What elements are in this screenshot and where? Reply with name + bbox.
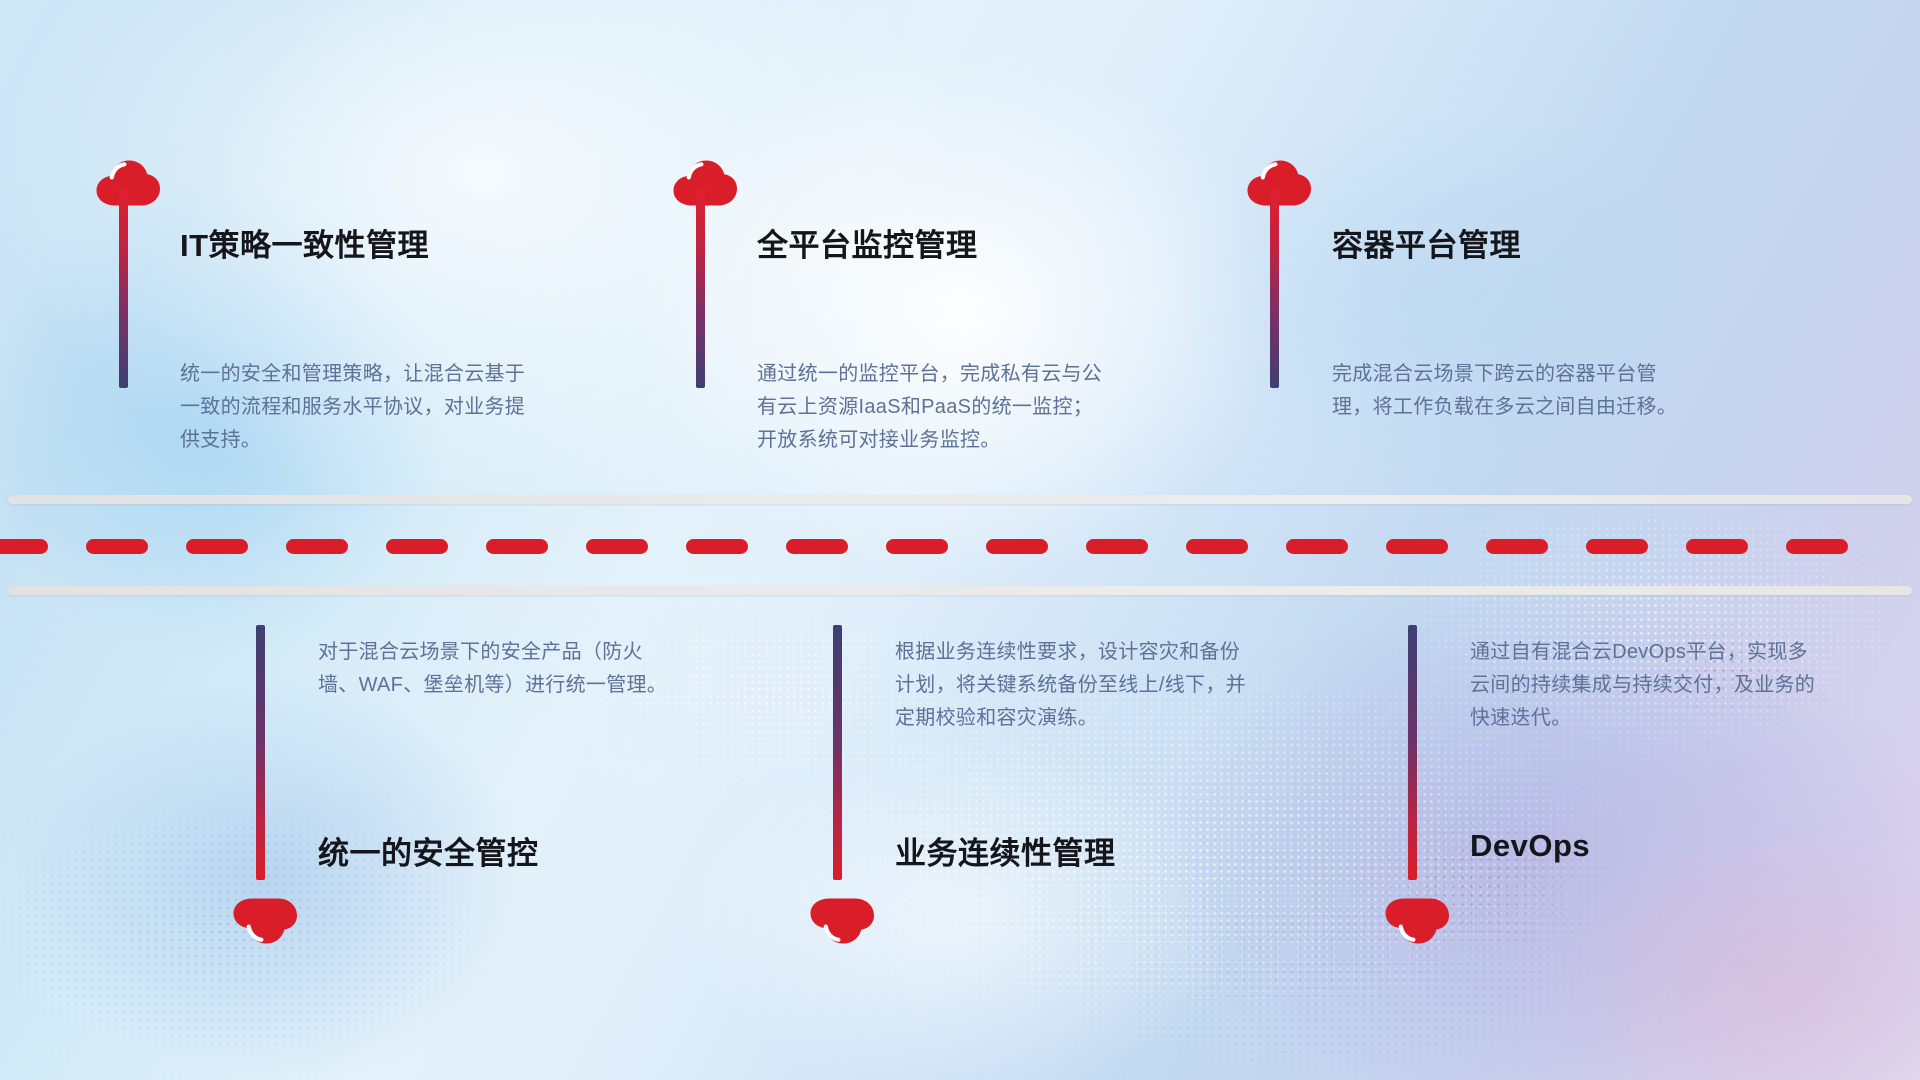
road-edge-line-top <box>8 495 1912 504</box>
bottom-item-1-description: 对于混合云场景下的安全产品（防火墙、WAF、堡垒机等）进行统一管理。 <box>318 636 673 702</box>
road-edge-line-bottom <box>8 586 1912 595</box>
top-item-1-description: 统一的安全和管理策略，让混合云基于一致的流程和服务水平协议，对业务提供支持。 <box>180 358 535 457</box>
connector-stem <box>1408 625 1417 880</box>
cloud-icon <box>809 898 875 944</box>
cloud-icon <box>1246 160 1312 206</box>
connector-stem <box>256 625 265 880</box>
road-dash-segment <box>1586 539 1648 554</box>
road-dash-segment <box>286 539 348 554</box>
cloud-icon <box>1384 898 1450 944</box>
cloud-icon <box>95 160 161 206</box>
top-item-2-title: 全平台监控管理 <box>757 220 978 265</box>
road-dash-segment <box>886 539 948 554</box>
road-dash-segment <box>986 539 1048 554</box>
top-item-2-description: 通过统一的监控平台，完成私有云与公有云上资源IaaS和PaaS的统一监控；开放系… <box>757 358 1112 457</box>
road-dash-segment <box>1286 539 1348 554</box>
connector-stem <box>696 188 705 388</box>
road-divider <box>0 495 1920 595</box>
connector-stem <box>119 188 128 388</box>
road-dash-segment <box>586 539 648 554</box>
connector-stem <box>833 625 842 880</box>
bottom-item-3-description: 通过自有混合云DevOps平台，实现多云间的持续集成与持续交付，及业务的快速迭代… <box>1470 636 1825 735</box>
infographic-canvas: IT策略一致性管理 统一的安全和管理策略，让混合云基于一致的流程和服务水平协议，… <box>0 0 1920 1080</box>
road-dash-segment <box>1686 539 1748 554</box>
road-dash-segment <box>386 539 448 554</box>
road-dash-segment <box>0 539 48 554</box>
road-dashed-center-line <box>0 539 1920 554</box>
bottom-item-3-title: DevOps <box>1470 828 1590 864</box>
road-dash-segment <box>86 539 148 554</box>
road-dash-segment <box>186 539 248 554</box>
road-dash-segment <box>1486 539 1548 554</box>
road-dash-segment <box>786 539 848 554</box>
road-dash-segment <box>1786 539 1848 554</box>
road-dash-segment <box>1086 539 1148 554</box>
cloud-icon <box>232 898 298 944</box>
bottom-item-1-title: 统一的安全管控 <box>318 828 539 873</box>
road-dash-segment <box>1186 539 1248 554</box>
top-item-1-title: IT策略一致性管理 <box>180 220 429 265</box>
road-dash-segment <box>686 539 748 554</box>
road-dash-segment <box>486 539 548 554</box>
connector-stem <box>1270 188 1279 388</box>
road-dash-segment <box>1386 539 1448 554</box>
cloud-icon <box>672 160 738 206</box>
top-item-3-title: 容器平台管理 <box>1332 220 1521 265</box>
top-item-3-description: 完成混合云场景下跨云的容器平台管理，将工作负载在多云之间自由迁移。 <box>1332 358 1687 424</box>
bottom-item-2-title: 业务连续性管理 <box>895 828 1116 873</box>
bottom-item-2-description: 根据业务连续性要求，设计容灾和备份计划，将关键系统备份至线上/线下，并定期校验和… <box>895 636 1250 735</box>
